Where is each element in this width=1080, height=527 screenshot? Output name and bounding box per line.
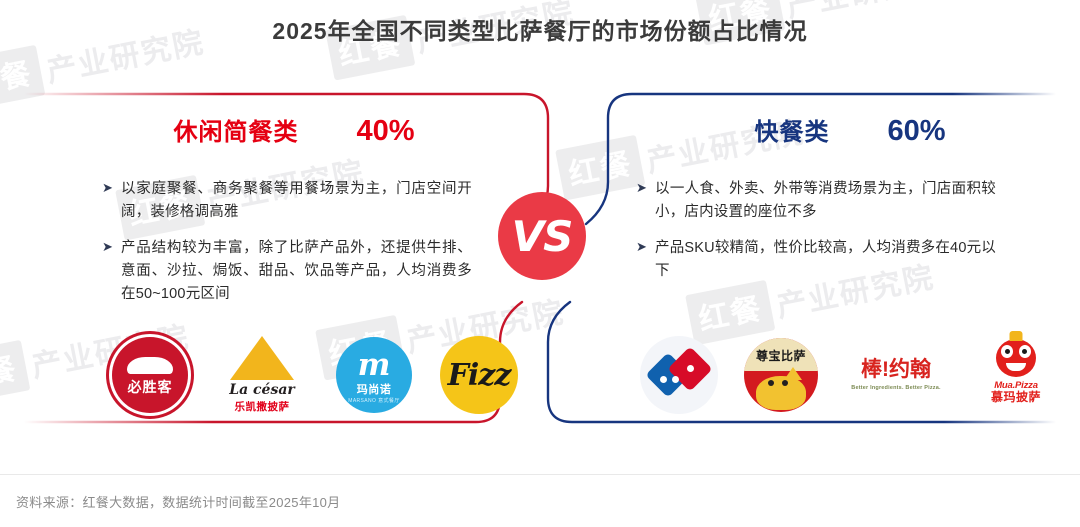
footer-divider bbox=[0, 474, 1080, 475]
mua-pizza-pupil-icon bbox=[1005, 349, 1010, 354]
marsano-m-icon: m bbox=[358, 352, 391, 378]
share-percent-leisure: 40% bbox=[356, 115, 414, 148]
pizza-hut-roof-icon bbox=[127, 357, 173, 374]
infographic-stage: 红餐 产业研究院 红餐 产业研究院 红餐 产业研究院 红餐 产业研究院 红餐 产… bbox=[0, 0, 1080, 527]
mua-pizza-pupil-icon bbox=[1022, 349, 1027, 354]
bullet-arrow-icon: ➤ bbox=[636, 178, 655, 224]
panel-left-heading: 休闲简餐类 40% bbox=[24, 112, 564, 148]
list-item: ➤ 产品结构较为丰富，除了比萨产品外，还提供牛排、意面、沙拉、焗饭、甜品、饮品等… bbox=[102, 237, 472, 306]
brand-name-en-marsano: MARSANO 意式餐厅 bbox=[348, 397, 399, 404]
panel-right-heading: 快餐类 60% bbox=[536, 112, 1080, 148]
brand-name-mua-pizza: 慕玛披萨 bbox=[991, 391, 1041, 404]
brand-logo-marsano[interactable]: m 玛尚诺 MARSANO 意式餐厅 bbox=[336, 337, 412, 413]
mua-pizza-crown-icon bbox=[1010, 331, 1023, 341]
bullet-text: 产品SKU较精简，性价比较高，人均消费多在40元以下 bbox=[655, 237, 996, 283]
bullet-text: 以家庭聚餐、商务聚餐等用餐场景为主，门店空间开阔，装修格调高雅 bbox=[121, 178, 472, 224]
brand-logo-mua-pizza[interactable]: Mua.Pizza 慕玛披萨 bbox=[974, 337, 1058, 413]
dominos-dot-icon bbox=[672, 376, 679, 383]
brand-name-zunbao: 尊宝比萨 bbox=[744, 347, 818, 364]
bullet-arrow-icon: ➤ bbox=[636, 237, 655, 283]
vs-label: VS bbox=[512, 212, 573, 261]
bullet-arrow-icon: ➤ bbox=[102, 178, 121, 224]
brand-logos-fastfood: 尊宝比萨 棒!约翰 Better Ingredients. Better Piz… bbox=[640, 336, 1058, 414]
brand-tagline-papa-johns: Better Ingredients. Better Pizza. bbox=[851, 385, 940, 391]
zunbao-eye-icon bbox=[768, 380, 774, 386]
dominos-dot-icon bbox=[687, 365, 694, 372]
mua-pizza-face-icon bbox=[996, 339, 1036, 377]
bullet-arrow-icon: ➤ bbox=[102, 237, 121, 306]
brand-logo-dominos[interactable] bbox=[640, 336, 718, 414]
share-percent-fastfood: 60% bbox=[887, 115, 945, 148]
list-item: ➤ 以家庭聚餐、商务聚餐等用餐场景为主，门店空间开阔，装修格调高雅 bbox=[102, 178, 472, 224]
zunbao-elephant-icon bbox=[756, 376, 806, 410]
bullet-text: 产品结构较为丰富，除了比萨产品外，还提供牛排、意面、沙拉、焗饭、甜品、饮品等产品… bbox=[121, 237, 472, 306]
list-item: ➤ 产品SKU较精简，性价比较高，人均消费多在40元以下 bbox=[636, 237, 996, 283]
bullet-list-fastfood: ➤ 以一人食、外卖、外带等消费场景为主，门店面积较小，店内设置的座位不多 ➤ 产… bbox=[636, 178, 996, 296]
brand-logo-papa-johns[interactable]: 棒!约翰 Better Ingredients. Better Pizza. bbox=[844, 347, 948, 403]
page-title: 2025年全国不同类型比萨餐厅的市场份额占比情况 bbox=[0, 12, 1080, 46]
brand-name-en-la-cesar: La césar bbox=[229, 383, 295, 397]
category-label-fastfood: 快餐类 bbox=[754, 112, 829, 147]
la-cesar-triangle-icon bbox=[230, 336, 294, 380]
panel-leisure-casual-dining: 休闲简餐类 40% ➤ 以家庭聚餐、商务聚餐等用餐场景为主，门店空间开阔，装修格… bbox=[24, 90, 564, 426]
brand-logo-pizza-hut[interactable]: 必胜客 bbox=[112, 337, 188, 413]
brand-name-pizza-hut: 必胜客 bbox=[112, 377, 188, 397]
dominos-dot-icon bbox=[660, 376, 667, 383]
brand-logos-leisure: 必胜客 La césar 乐凯撒披萨 m 玛尚诺 MARSANO 意式餐厅 Fi… bbox=[112, 336, 518, 414]
source-note: 资料来源：红餐大数据，数据统计时间截至2025年10月 bbox=[16, 492, 340, 511]
brand-name-papa-johns: 棒!约翰 bbox=[861, 359, 931, 381]
category-label-leisure: 休闲简餐类 bbox=[173, 112, 298, 147]
brand-logo-fizz[interactable]: Fizz bbox=[440, 336, 518, 414]
vs-badge: VS bbox=[498, 192, 586, 280]
brand-logo-la-cesar[interactable]: La césar 乐凯撒披萨 bbox=[216, 336, 308, 414]
brand-name-la-cesar: 乐凯撒披萨 bbox=[235, 399, 290, 414]
brand-logo-zunbao[interactable]: 尊宝比萨 bbox=[744, 338, 818, 412]
zunbao-pizza-slice-icon bbox=[784, 367, 802, 380]
list-item: ➤ 以一人食、外卖、外带等消费场景为主，门店面积较小，店内设置的座位不多 bbox=[636, 178, 996, 224]
brand-name-marsano: 玛尚诺 bbox=[357, 381, 392, 397]
mua-pizza-mouth-icon bbox=[1006, 363, 1026, 371]
panel-fast-food: 快餐类 60% ➤ 以一人食、外卖、外带等消费场景为主，门店面积较小，店内设置的… bbox=[536, 90, 1056, 426]
bullet-list-leisure: ➤ 以家庭聚餐、商务聚餐等用餐场景为主，门店空间开阔，装修格调高雅 ➤ 产品结构… bbox=[102, 178, 472, 319]
zunbao-eye-icon bbox=[782, 380, 788, 386]
brand-name-fizz: Fizz bbox=[448, 358, 511, 393]
bullet-text: 以一人食、外卖、外带等消费场景为主，门店面积较小，店内设置的座位不多 bbox=[655, 178, 996, 224]
